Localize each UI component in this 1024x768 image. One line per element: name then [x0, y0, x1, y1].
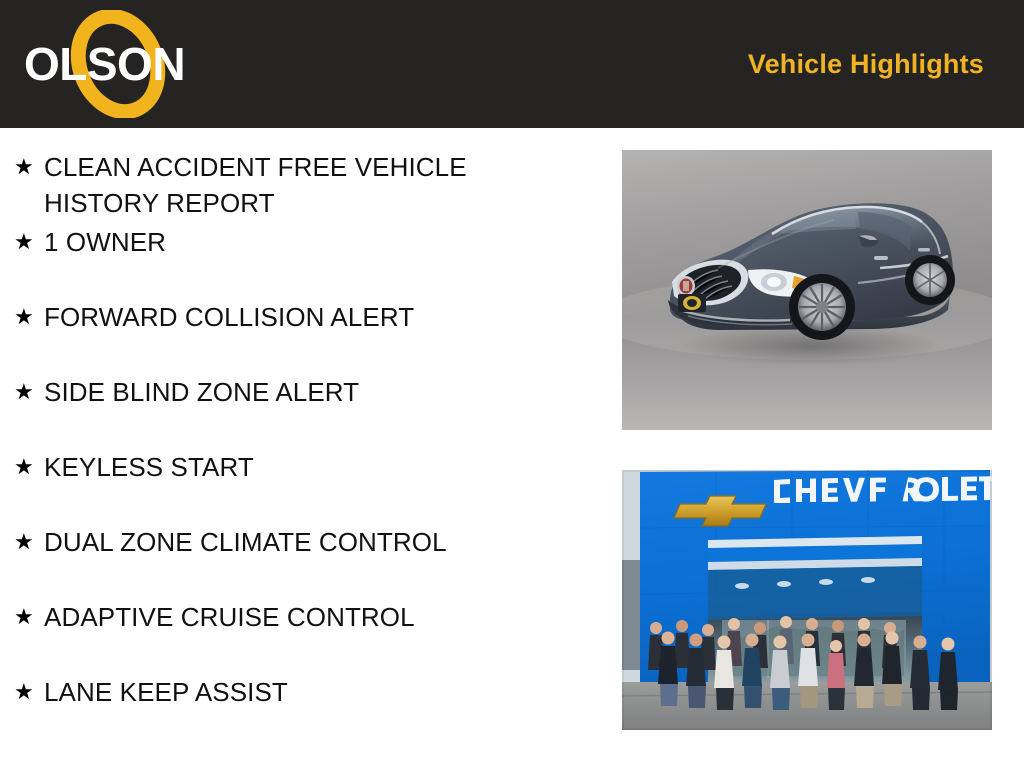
list-item: ★ KEYLESS START [0, 449, 600, 524]
olson-logo: OLSON [14, 5, 204, 123]
list-item-label: 1 OWNER [44, 224, 166, 260]
list-item: ★ 1 OWNER [0, 224, 600, 299]
list-item: ★ CLEAN ACCIDENT FREE VEHICLE HISTORY RE… [0, 149, 600, 224]
star-bullet-icon: ★ [14, 449, 44, 485]
star-bullet-icon: ★ [14, 149, 44, 185]
list-item-label: ADAPTIVE CRUISE CONTROL [44, 599, 415, 635]
list-item: ★ SIDE BLIND ZONE ALERT [0, 374, 600, 449]
page-header: OLSON Vehicle Highlights [0, 0, 1024, 128]
vehicle-photo-image [622, 150, 992, 430]
star-bullet-icon: ★ [14, 674, 44, 710]
list-item-label: KEYLESS START [44, 449, 254, 485]
page-title: Vehicle Highlights [748, 49, 984, 80]
list-item: ★ DUAL ZONE CLIMATE CONTROL [0, 524, 600, 599]
star-bullet-icon: ★ [14, 524, 44, 560]
logo-wordmark: OLSON [24, 41, 194, 87]
vehicle-photo [622, 150, 992, 430]
list-item-label: SIDE BLIND ZONE ALERT [44, 374, 359, 410]
star-bullet-icon: ★ [14, 299, 44, 335]
star-bullet-icon: ★ [14, 599, 44, 635]
list-item-label: FORWARD COLLISION ALERT [44, 299, 414, 335]
star-bullet-icon: ★ [14, 374, 44, 410]
dealership-photo [622, 470, 992, 730]
list-item: ★ ADAPTIVE CRUISE CONTROL [0, 599, 600, 674]
list-item-label: CLEAN ACCIDENT FREE VEHICLE HISTORY REPO… [44, 149, 524, 221]
list-item: ★ FORWARD COLLISION ALERT [0, 299, 600, 374]
vehicle-highlights-page: OLSON Vehicle Highlights ★ CLEAN ACCIDEN… [0, 0, 1024, 768]
dealership-photo-image [622, 470, 992, 730]
list-item: ★ LANE KEEP ASSIST [0, 674, 600, 749]
list-item-label: LANE KEEP ASSIST [44, 674, 288, 710]
highlights-list: ★ CLEAN ACCIDENT FREE VEHICLE HISTORY RE… [0, 128, 600, 749]
list-item-label: DUAL ZONE CLIMATE CONTROL [44, 524, 447, 560]
star-bullet-icon: ★ [14, 224, 44, 260]
